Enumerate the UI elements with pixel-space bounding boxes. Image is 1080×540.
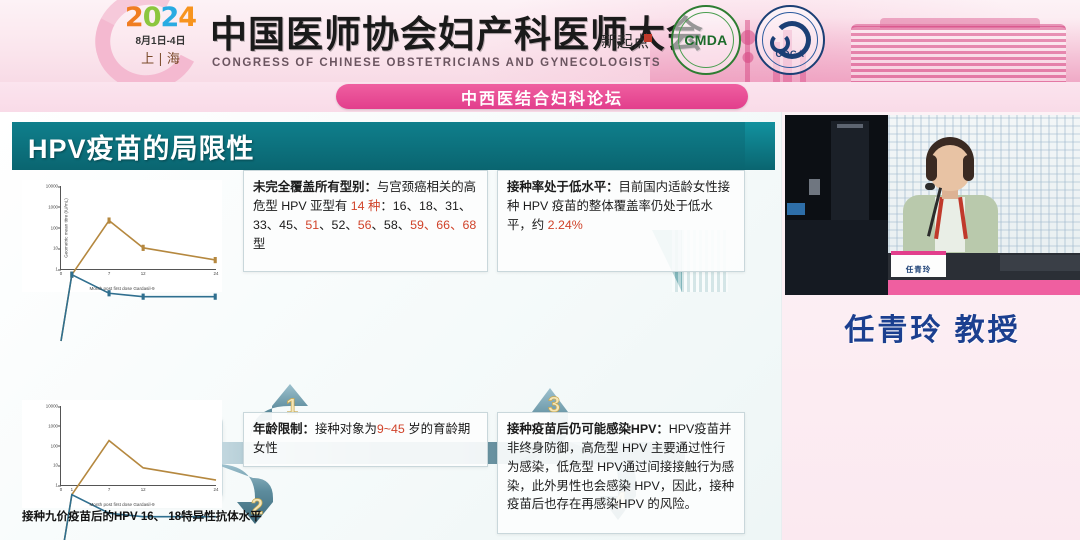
chart-x-axis-label: Month post first dose Gardasil-9 [22,502,222,507]
limitation-box-age-limit: 年龄限制：接种对象为9~45 岁的育龄期女性 [243,412,488,467]
year-digit-3: 2 [161,2,179,33]
conference-year: 2024 [113,4,208,31]
box2-highlight1: 9~45 [377,422,405,436]
chart-y-tick: 100 [51,225,58,230]
chart-y-tick: 100 [51,443,58,448]
conference-year-block: 2024 8月1日-4日 上 | 海 [113,4,208,67]
pearl-tower-icon [745,20,750,82]
speaker-name-title: 任青玲 教授 [785,305,1080,349]
box1-highlight1: 14 种 [351,199,381,213]
limitation-box-reinfection: 接种疫苗后仍可能感染HPV：HPV疫苗并非终身防御，高危型 HPV 主要通过性行… [497,412,745,534]
chart-y-tick: 10000 [46,184,58,189]
coga-logo-text: COGA [757,49,823,59]
box3-lead: 接种率处于低水平： [507,180,619,194]
antibody-titre-chart-top: Geometric mean titre (IU/mL) 1 10 100 10… [22,180,222,292]
box1-lead: 未完全覆盖所有型别： [253,180,377,194]
year-digit-4: 4 [178,2,196,33]
chart-y-tick: 1 [56,483,58,488]
microphone-head-icon [925,183,935,190]
video-equipment-label [837,124,863,128]
box1-body3: 、52、 [319,218,358,232]
presentation-slide: HPV疫苗的局限性 Geometric mean titre (IU/mL) 1… [0,112,782,540]
chart-y-tick: 1000 [48,423,58,428]
chart-plot-area: Geometric mean titre (IU/mL) 1 10 100 10… [60,186,216,270]
box1-highlight3: 56 [358,218,372,232]
chart-y-tick: 1 [56,267,58,272]
video-blue-light [787,203,805,215]
coga-logo: COGA [755,5,825,75]
chart-caption: 接种九价疫苗后的HPV 16、 18特异性抗体水平 [22,508,262,524]
box1-body4: 、58、 [372,218,411,232]
antibody-titre-chart-bottom: 1 10 100 1000 10000 0 1 7 12 24 Month po… [22,400,222,508]
cmda-logo-text: CMDA [684,32,727,48]
box4-lead: 接种疫苗后仍可能感染HPV： [507,422,669,436]
box1-body5: 型 [253,237,265,251]
podium-desk [1000,255,1080,271]
video-wall-box [809,179,820,195]
page-title: HPV疫苗的局限性 [28,127,255,166]
year-digit-1: 2 [125,2,143,33]
slide-title-accent [745,122,775,170]
congress-title-en: CONGRESS OF CHINESE OBSTETRICIANS AND GY… [212,57,661,69]
chart-y-tick: 1000 [48,204,58,209]
chart-line-hpv16 [61,441,216,540]
speaker-video-feed[interactable]: 任青玲 [785,115,1080,295]
conference-city: 上 | 海 [113,48,208,67]
forum-banner: 中西医结合妇科论坛 [336,84,748,109]
conference-dates: 8月1日-4日 [113,32,208,47]
chart-markers-svg [61,186,216,341]
chart-y-tick: 10000 [46,404,58,409]
limitation-box-coverage: 未完全覆盖所有型别：与宫颈癌相关的高危型 HPV 亚型有 14 种：16、18、… [243,170,488,272]
speaker-nameplate: 任青玲 [891,251,946,277]
chart-y-tick: 10 [53,463,58,468]
chart-plot-area: 1 10 100 1000 10000 0 1 7 12 24 [60,406,216,486]
chart-y-tick: 10 [53,246,58,251]
slide-title-bar: HPV疫苗的局限性 [12,122,752,170]
conference-header-banner: 2024 8月1日-4日 上 | 海 中国医师协会妇产科医师大会 新起点 CON… [0,0,1080,82]
congress-seal-text: 新起点 [601,28,649,52]
speaker-hair-left [926,155,937,181]
box1-highlight4: 59、66、68 [410,218,476,232]
year-digit-2: 0 [143,2,161,33]
box1-highlight2: 51 [305,218,319,232]
video-dark-screen-lower [785,220,888,295]
video-stage-equipment [831,121,869,221]
box2-lead: 年龄限制： [253,422,315,436]
chart-x-axis-label: Month post first dose Gardasil-9 [22,286,222,291]
exhibition-hall-building [851,24,1066,82]
red-seal-icon [644,34,652,42]
podium-pink-band [888,280,1080,295]
cmda-logo: CMDA [671,5,741,75]
speaker-nameplate-text: 任青玲 [891,264,946,275]
box2-body1: 接种对象为 [315,422,377,436]
box3-highlight1: 2.24% [548,218,583,232]
limitation-box-low-rate: 接种率处于低水平：目前国内适龄女性接种 HPV 疫苗的整体覆盖率仍处于低水平，约… [497,170,745,272]
chart-markers-hpv16 [70,217,216,277]
speaker-hair-right [963,155,974,181]
